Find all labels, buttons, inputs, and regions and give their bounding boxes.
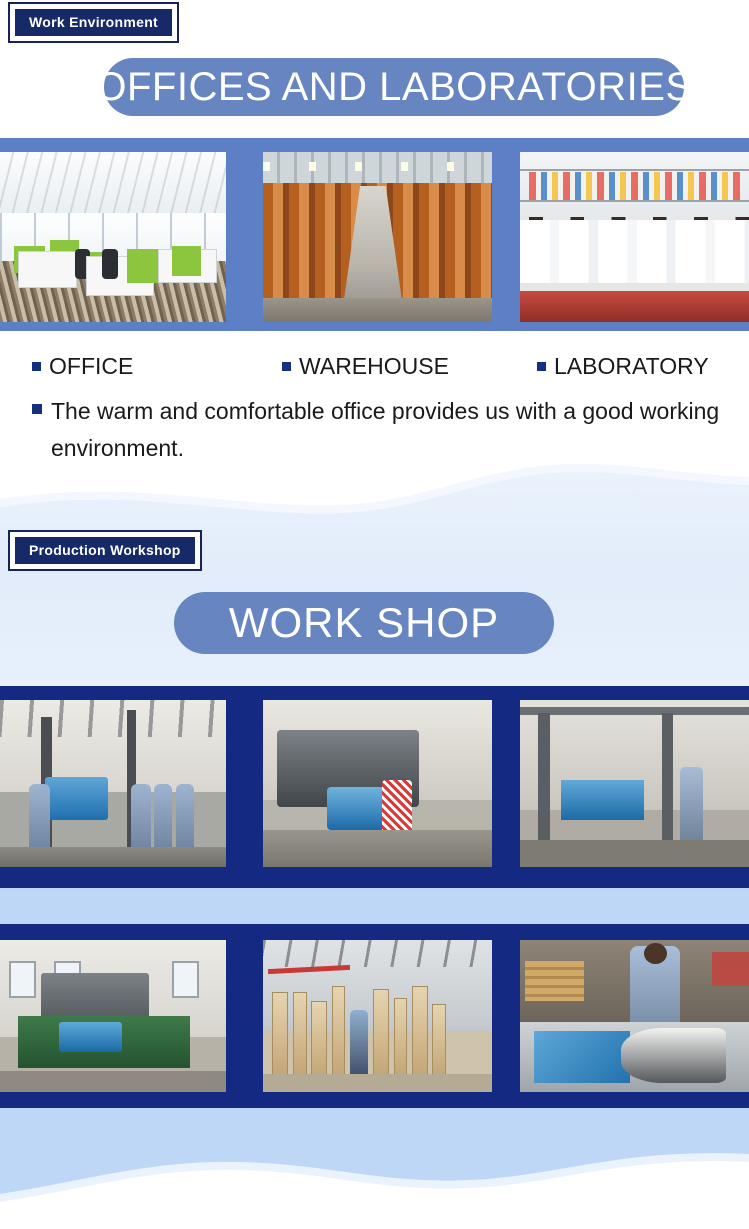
worker (680, 767, 703, 844)
timber-floor (263, 1074, 492, 1092)
press-floor (520, 840, 749, 867)
blue-rubber-roll (59, 1022, 122, 1052)
timber-stack (311, 1001, 327, 1080)
photo-workshop-timber (263, 940, 492, 1092)
timber-stack (373, 989, 389, 1080)
worker-head (644, 943, 667, 964)
office-ceiling (0, 152, 226, 220)
blue-rubber-roll (45, 777, 108, 820)
lathe-floor (263, 830, 492, 867)
inspection-crates (525, 961, 585, 1001)
section-badge-label: Work Environment (13, 7, 174, 38)
mill-window (172, 961, 199, 997)
section-badge-work-environment: Work Environment (8, 2, 179, 43)
photo-workshop-calender (0, 700, 226, 867)
photo-laboratory (520, 152, 749, 322)
office-chair (102, 249, 118, 280)
headline-work-shop: WORK SHOP (174, 592, 554, 654)
rolled-sheet (621, 1028, 726, 1083)
strip-between-workshop-rows (0, 888, 749, 924)
lab-shelf (520, 169, 749, 171)
timber-stack (432, 1004, 446, 1080)
inspection-machine (712, 952, 749, 985)
photo-warehouse (263, 152, 492, 322)
lab-bench-sample (520, 291, 749, 322)
lab-bench-top (520, 283, 749, 292)
photo-workshop-mill (0, 940, 226, 1092)
worker (29, 784, 49, 857)
bullet-square-icon (32, 362, 41, 371)
photo-workshop-sheet-inspection (520, 940, 749, 1092)
bullet-description-label: The warm and comfortable office provides… (51, 393, 722, 468)
headline-offices-and-laboratories: OFFICES AND LABORATORIES (104, 58, 684, 116)
timber-stack (272, 992, 288, 1080)
timber-stack (412, 986, 428, 1080)
bullet-office-label: OFFICE (49, 353, 133, 380)
page-root: Work Environment OFFICES AND LABORATORIE… (0, 0, 749, 1229)
timber-stack (293, 992, 307, 1080)
overhead-crane (520, 707, 749, 715)
headline-workshop-label: WORK SHOP (229, 599, 499, 647)
headline-offices-label: OFFICES AND LABORATORIES (95, 65, 692, 110)
mill-window (9, 961, 36, 997)
office-partition (172, 246, 201, 277)
warehouse-floor (263, 298, 492, 322)
bullet-warehouse: WAREHOUSE (282, 353, 449, 380)
worker (154, 784, 172, 857)
timber-stack (332, 986, 346, 1080)
warehouse-lights (263, 162, 492, 171)
photo-office (0, 152, 226, 322)
blue-rubber-roll (327, 787, 387, 830)
machine-roof-beams (0, 700, 226, 737)
bullet-laboratory-label: LABORATORY (554, 353, 709, 380)
worker (350, 1010, 368, 1080)
timber-stack (394, 998, 408, 1080)
office-desk (18, 251, 77, 288)
photo-workshop-lathe (263, 700, 492, 867)
blue-rubber-sheet (534, 1031, 630, 1083)
bullet-square-icon (282, 362, 291, 371)
section-badge-production-workshop: Production Workshop (8, 530, 202, 571)
machine-floor (0, 847, 226, 867)
section-badge-label: Production Workshop (13, 535, 197, 566)
bullet-square-icon (537, 362, 546, 371)
press-column (662, 713, 673, 843)
wave-divider-bottom (0, 1108, 749, 1229)
worker (131, 784, 151, 857)
bullet-laboratory: LABORATORY (537, 353, 709, 380)
lab-sample-spools (529, 172, 740, 199)
blue-rubber-sheet (561, 780, 643, 820)
worker (176, 784, 194, 857)
mill-floor (0, 1071, 226, 1092)
press-column (538, 713, 549, 843)
bullet-warehouse-label: WAREHOUSE (299, 353, 449, 380)
bullet-office: OFFICE (32, 353, 133, 380)
timber-roof-beams (263, 940, 492, 967)
bullet-description: The warm and comfortable office provides… (32, 393, 722, 468)
bullet-square-icon (32, 404, 42, 414)
photo-workshop-press (520, 700, 749, 867)
lab-shelf (520, 200, 749, 202)
